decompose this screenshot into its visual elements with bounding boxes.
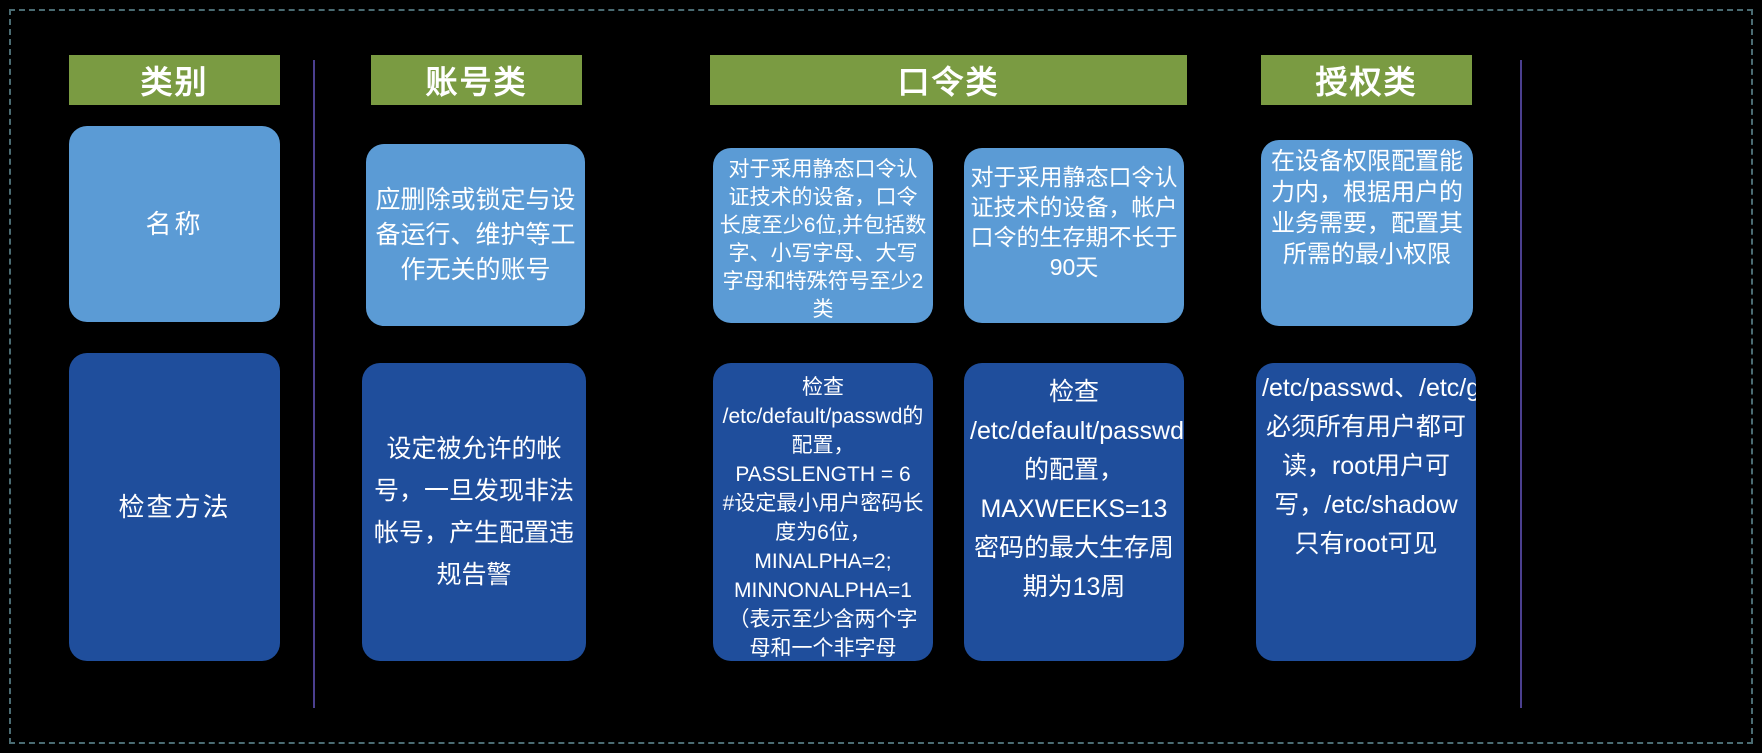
cell-name-password-1: 对于采用静态口令认证技术的设备，口令长度至少6位,并包括数字、小写字母、大写字母… — [713, 148, 933, 323]
header-category: 类别 — [69, 55, 280, 105]
cell-method-authorization-text: /etc/passwd、/etc/group必须所有用户都可读，root用户可写… — [1262, 369, 1470, 564]
row-label-method-text: 检查方法 — [75, 490, 274, 524]
cell-method-password-1: 检查 /etc/default/passwd的配置， PASSLENGTH = … — [713, 363, 933, 661]
column-separator-left — [313, 60, 315, 708]
slide-canvas: 类别 账号类 口令类 授权类 名称 应删除或锁定与设备运行、维护等工作无关的账号… — [0, 0, 1762, 753]
cell-name-authorization-text: 在设备权限配置能力内，根据用户的业务需要，配置其所需的最小权限 — [1267, 146, 1467, 270]
cell-name-authorization: 在设备权限配置能力内，根据用户的业务需要，配置其所需的最小权限 — [1261, 140, 1473, 326]
header-account: 账号类 — [371, 55, 582, 105]
cell-name-account: 应删除或锁定与设备运行、维护等工作无关的账号 — [366, 144, 585, 326]
cell-method-password-2: 检查 /etc/default/passwd的配置， MAXWEEKS=13密码… — [964, 363, 1184, 661]
cell-method-authorization: /etc/passwd、/etc/group必须所有用户都可读，root用户可写… — [1256, 363, 1476, 661]
column-separator-right — [1520, 60, 1522, 708]
row-label-method: 检查方法 — [69, 353, 280, 661]
header-account-label: 账号类 — [425, 57, 527, 103]
cell-method-password-2-text: 检查 /etc/default/passwd的配置， MAXWEEKS=13密码… — [970, 373, 1178, 607]
cell-name-password-2-text: 对于采用静态口令认证技术的设备，帐户口令的生存期不长于90天 — [970, 162, 1178, 282]
header-authorization: 授权类 — [1261, 55, 1472, 105]
header-category-label: 类别 — [140, 57, 208, 103]
row-label-name: 名称 — [69, 126, 280, 322]
header-authorization-label: 授权类 — [1315, 57, 1417, 103]
cell-name-password-2: 对于采用静态口令认证技术的设备，帐户口令的生存期不长于90天 — [964, 148, 1184, 323]
cell-method-account-text: 设定被允许的帐号，一旦发现非法帐号，产生配置违规告警 — [368, 428, 580, 596]
header-password: 口令类 — [710, 55, 1187, 105]
header-password-label: 口令类 — [897, 57, 999, 103]
cell-name-password-1-text: 对于采用静态口令认证技术的设备，口令长度至少6位,并包括数字、小写字母、大写字母… — [719, 156, 927, 323]
row-label-name-text: 名称 — [75, 207, 274, 241]
cell-name-account-text: 应删除或锁定与设备运行、维护等工作无关的账号 — [372, 183, 579, 288]
cell-method-account: 设定被允许的帐号，一旦发现非法帐号，产生配置违规告警 — [362, 363, 586, 661]
cell-method-password-1-text: 检查 /etc/default/passwd的配置， PASSLENGTH = … — [719, 373, 927, 661]
